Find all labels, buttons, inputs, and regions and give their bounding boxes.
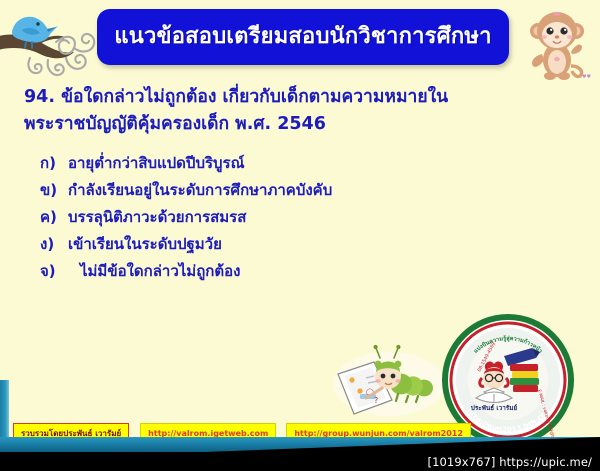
choices-list: ก) อายุต่ำกว่าสิบแปดปีบริบูรณ์ ข) กำลังเ… bbox=[40, 156, 510, 291]
choice-item[interactable]: ค) บรรลุนิติภาวะด้วยการสมรส bbox=[40, 210, 510, 237]
choice-item[interactable]: ข) กำลังเรียนอยู่ในระดับการศึกษาภาคบังคั… bbox=[40, 183, 510, 210]
question-line-2: พระราชบัญญัติคุ้มครองเด็ก พ.ศ. 2546 bbox=[24, 111, 544, 138]
question-block: 94. ข้อใดกล่าวไม่ถูกต้อง เกี่ยวกับเด็กตา… bbox=[24, 84, 544, 137]
monkey-mascot-icon: ♥♥ bbox=[520, 4, 594, 80]
choice-item[interactable]: จ) ไม่มีข้อใดกล่าวไม่ถูกต้อง bbox=[40, 264, 510, 291]
choice-key: ก) bbox=[40, 156, 68, 171]
choice-item[interactable]: ง) เข้าเรียนในระดับปฐมวัย bbox=[40, 237, 510, 264]
watermark-text: [1019x767] https://upic.me/ bbox=[428, 452, 593, 471]
choice-key: ข) bbox=[40, 183, 68, 198]
choice-text: บรรลุนิติภาวะด้วยการสมรส bbox=[68, 210, 246, 225]
choice-item[interactable]: ก) อายุต่ำกว่าสิบแปดปีบริบูรณ์ bbox=[40, 156, 510, 183]
choice-key: ง) bbox=[40, 237, 68, 252]
bird-icon bbox=[12, 17, 58, 48]
choice-text: ไม่มีข้อใดกล่าวไม่ถูกต้อง bbox=[80, 264, 240, 279]
question-line-1: 94. ข้อใดกล่าวไม่ถูกต้อง เกี่ยวกับเด็กตา… bbox=[24, 84, 544, 111]
seal-center-name: ประพันธ์ เวารัมย์ bbox=[471, 404, 518, 412]
caterpillar-reading-book-icon: ◯ ? bbox=[330, 336, 448, 420]
title-text: แนวข้อสอบเตรียมสอบนักวิชาการศึกษา bbox=[114, 26, 491, 48]
slide-canvas: แนวข้อสอบเตรียมสอบนักวิชาการศึกษา bbox=[0, 0, 600, 452]
svg-text:?: ? bbox=[374, 396, 378, 405]
choice-key: ค) bbox=[40, 210, 68, 225]
quiz-slide: แนวข้อสอบเตรียมสอบนักวิชาการศึกษา bbox=[0, 0, 600, 471]
choice-key: จ) bbox=[40, 264, 80, 279]
title-banner: แนวข้อสอบเตรียมสอบนักวิชาการศึกษา bbox=[97, 9, 509, 65]
svg-text:♥♥: ♥♥ bbox=[582, 74, 591, 80]
choice-text: กำลังเรียนอยู่ในระดับการศึกษาภาคบังคับ bbox=[68, 183, 332, 198]
choice-text: เข้าเรียนในระดับปฐมวัย bbox=[68, 237, 222, 252]
choice-text: อายุต่ำกว่าสิบแปดปีบริบูรณ์ bbox=[68, 156, 245, 171]
